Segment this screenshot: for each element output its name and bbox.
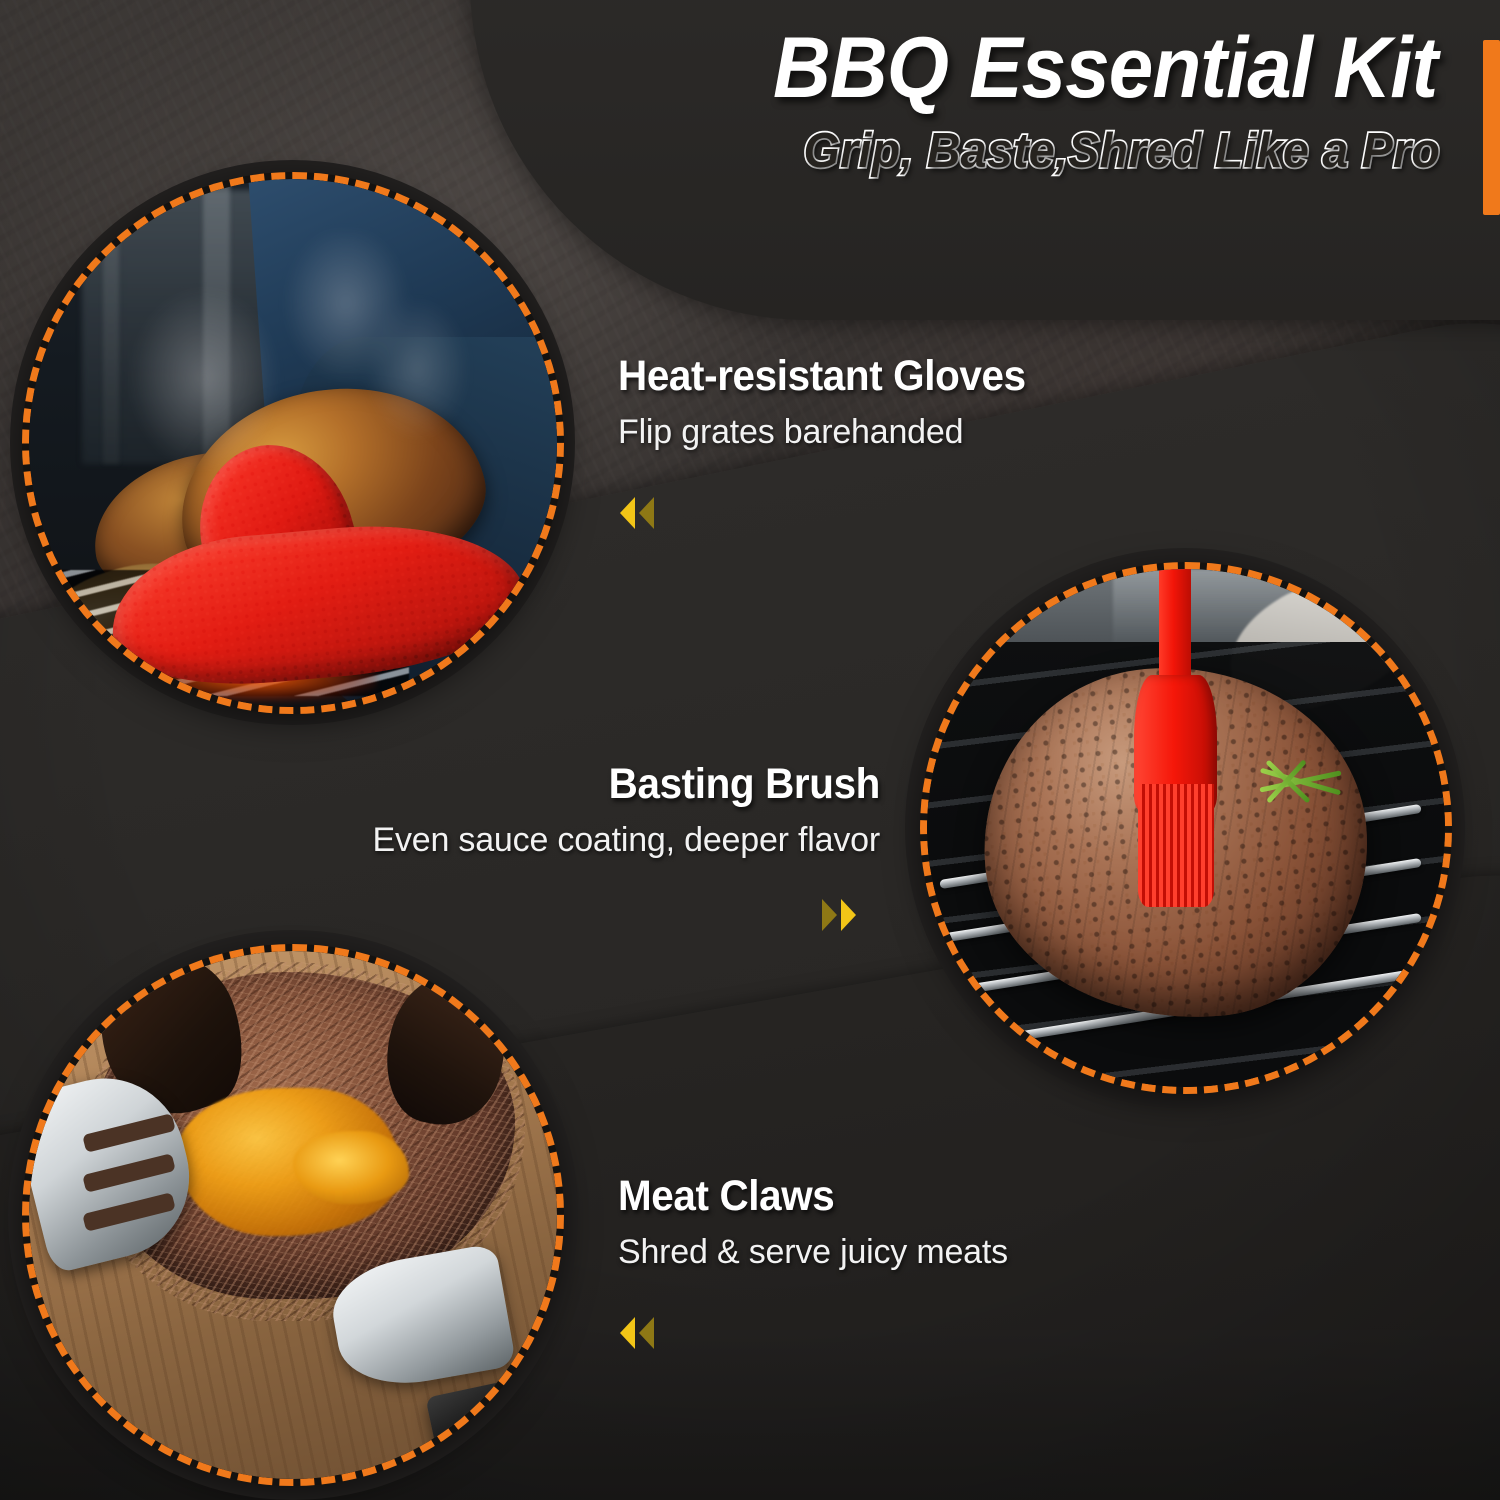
chevron-right-icon-brush — [822, 899, 856, 931]
feature-subtitle-brush: Even sauce coating, deeper flavor — [180, 821, 880, 860]
brand-logo-text: wallos — [476, 1388, 554, 1432]
brush-bristles — [1138, 784, 1214, 907]
photo-heat-resistant-gloves — [22, 172, 564, 714]
photo-meat-claws: wallos — [22, 944, 564, 1486]
feature-block-brush: Basting Brush Even sauce coating, deeper… — [180, 760, 880, 860]
photo-claws-content: wallos — [29, 951, 557, 1479]
handle-rivet — [461, 1425, 479, 1443]
glove-grip-texture-palm — [106, 512, 531, 695]
feature-title-brush: Basting Brush — [222, 760, 880, 809]
feature-title-gloves: Heat-resistant Gloves — [618, 352, 1026, 401]
photo-gloves-content — [29, 179, 557, 707]
photo-basting-brush — [920, 562, 1452, 1094]
page-subtitle: Grip, Baste,Shred Like a Pro — [606, 123, 1480, 179]
page-title: BBQ Essential Kit — [624, 22, 1480, 115]
red-silicone-glove — [103, 475, 525, 686]
feature-title-claws: Meat Claws — [618, 1172, 985, 1221]
claw-right-head — [326, 1243, 517, 1395]
feature-subtitle-gloves: Flip grates barehanded — [618, 413, 1052, 452]
bbq-sauce-drizzle-2 — [293, 1131, 409, 1205]
meat-claw-right: wallos — [335, 1257, 557, 1458]
red-silicone-basting-brush — [1134, 569, 1217, 901]
chevron-arrow — [822, 899, 837, 931]
infographic-canvas: BBQ Essential Kit Grip, Baste,Shred Like… — [0, 0, 1500, 1500]
chevron-left-icon-claws — [620, 1317, 654, 1349]
chevron-arrow — [620, 1317, 635, 1349]
chevron-arrow — [639, 1317, 654, 1349]
header-text-group: BBQ Essential Kit Grip, Baste,Shred Like… — [560, 22, 1480, 179]
chevron-arrow — [620, 497, 635, 529]
chevron-left-icon-gloves — [620, 497, 654, 529]
meat-claw-left — [29, 1078, 187, 1258]
feature-subtitle-claws: Shred & serve juicy meats — [618, 1233, 1008, 1272]
orange-accent-bar — [1483, 40, 1500, 215]
chevron-arrow — [841, 899, 856, 931]
photo-brush-content — [927, 569, 1445, 1087]
feature-block-gloves: Heat-resistant Gloves Flip grates bareha… — [618, 352, 1052, 452]
claw-right-handle: wallos — [425, 1368, 557, 1479]
rosemary-sprig — [1259, 755, 1342, 807]
glove-palm — [106, 512, 531, 695]
feature-block-claws: Meat Claws Shred & serve juicy meats — [618, 1172, 1008, 1272]
chevron-arrow — [639, 497, 654, 529]
